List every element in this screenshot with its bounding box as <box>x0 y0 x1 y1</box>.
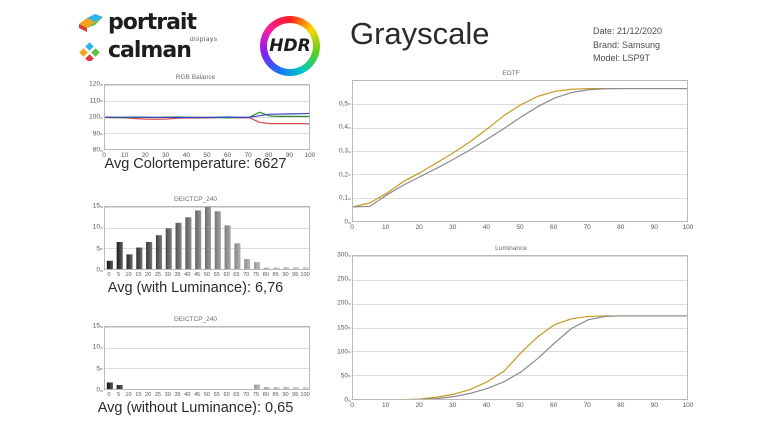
hdr-badge-ring-icon: HDR <box>260 16 320 76</box>
bar <box>264 387 270 390</box>
bar <box>254 385 260 390</box>
x-axis-tick-label: 20 <box>416 402 423 409</box>
calman-wordmark: calman <box>108 40 191 62</box>
x-axis-tick-label: 10 <box>125 392 131 398</box>
x-axis-tick-label: 85 <box>273 272 279 278</box>
chart-title-deictcp-with: DEICTCP_240 <box>78 196 313 203</box>
y-axis-tick-mark <box>348 151 351 152</box>
x-axis-tick-label: 80 <box>617 402 624 409</box>
y-axis-tick-label: 250 <box>330 276 348 283</box>
chart-deictcp-with-luminance: DEICTCP_240 Avg (with Luminance): 6,76 0… <box>78 196 313 301</box>
plot-area-eotf <box>352 80 688 222</box>
bar <box>107 261 113 270</box>
x-axis-tick-label: 55 <box>214 392 220 398</box>
x-axis-tick-label: 50 <box>204 392 210 398</box>
y-axis-tick-label: 110 <box>82 97 100 104</box>
hdr-badge-label: HDR <box>260 16 320 76</box>
y-axis-tick-mark <box>348 376 351 377</box>
portrait-mark-icon <box>78 13 104 33</box>
x-axis-tick-label: 35 <box>174 272 180 278</box>
y-axis-tick-label: 5 <box>86 365 100 372</box>
bar <box>117 385 123 390</box>
series-line <box>353 316 688 400</box>
x-axis-tick-label: 60 <box>224 152 231 159</box>
bar <box>205 207 211 270</box>
bar <box>293 387 299 390</box>
y-axis-tick-label: 0,1 <box>330 195 348 202</box>
x-axis-tick-label: 40 <box>483 402 490 409</box>
bar <box>244 259 250 270</box>
y-axis-tick-mark <box>100 134 103 135</box>
x-axis-tick-label: 30 <box>165 272 171 278</box>
y-axis-tick-label: 150 <box>330 324 348 331</box>
gridline <box>353 399 687 400</box>
gridline <box>105 149 309 150</box>
x-axis-tick-label: 85 <box>273 392 279 398</box>
bar <box>156 235 162 270</box>
y-axis-tick-mark <box>100 326 103 327</box>
y-axis-tick-label: 0 <box>86 387 100 394</box>
bar <box>126 389 132 390</box>
chart-luminance: Luminance 050100150200250300010203040506… <box>330 245 692 420</box>
y-axis-tick-mark <box>348 222 351 223</box>
x-axis-tick-label: 10 <box>382 402 389 409</box>
x-axis-tick-label: 30 <box>165 392 171 398</box>
chart-deictcp-without-luminance: DEICTCP_240 Avg (without Luminance): 0,6… <box>78 316 313 421</box>
x-axis-tick-label: 80 <box>263 392 269 398</box>
y-axis-tick-label: 120 <box>82 81 100 88</box>
series-line <box>353 89 688 207</box>
x-axis-tick-label: 50 <box>516 224 523 231</box>
y-axis-tick-label: 50 <box>330 372 348 379</box>
series-layer <box>105 85 310 150</box>
x-axis-tick-label: 90 <box>282 272 288 278</box>
page-title: Grayscale <box>350 16 490 52</box>
x-axis-tick-label: 100 <box>305 152 316 159</box>
plot-area-deictcp-with <box>104 206 310 270</box>
x-axis-tick-label: 90 <box>651 402 658 409</box>
y-axis-tick-mark <box>348 175 351 176</box>
bar <box>117 242 123 270</box>
y-axis-tick-label: 10 <box>86 224 100 231</box>
y-axis-tick-mark <box>100 101 103 102</box>
caption-colortemperature: Avg Colortemperature: 6627 <box>78 156 313 172</box>
bar <box>234 243 240 270</box>
bar <box>274 268 280 270</box>
portrait-wordmark: portrait <box>108 12 196 34</box>
y-axis-tick-label: 15 <box>86 323 100 330</box>
x-axis-tick-label: 50 <box>203 152 210 159</box>
x-axis-tick-label: 65 <box>233 392 239 398</box>
chart-title-luminance: Luminance <box>330 245 692 252</box>
x-axis-tick-label: 0 <box>350 224 354 231</box>
y-axis-tick-mark <box>100 150 103 151</box>
x-axis-tick-label: 65 <box>233 272 239 278</box>
y-axis-tick-mark <box>348 255 351 256</box>
caption-with-luminance: Avg (with Luminance): 6,76 <box>78 280 313 296</box>
bar <box>274 387 280 390</box>
bar <box>136 248 142 270</box>
chart-rgb-balance: RGB Balance Avg Colortemperature: 6627 8… <box>78 74 313 179</box>
bar <box>176 223 182 270</box>
plot-area-deictcp-without <box>104 326 310 390</box>
series-line <box>105 117 310 124</box>
y-axis-tick-label: 0 <box>86 267 100 274</box>
meta-date: Date: 21/12/2020 <box>593 25 662 39</box>
chart-title-eotf: EOTF <box>330 70 692 77</box>
x-axis-tick-label: 100 <box>683 402 694 409</box>
y-axis-tick-label: 300 <box>330 252 348 259</box>
y-axis-tick-mark <box>100 390 103 391</box>
x-axis-tick-label: 90 <box>286 152 293 159</box>
y-axis-tick-mark <box>348 400 351 401</box>
bar <box>156 389 162 390</box>
series-line <box>353 89 688 207</box>
x-axis-tick-label: 15 <box>135 392 141 398</box>
bar <box>107 382 113 390</box>
x-axis-tick-label: 5 <box>117 392 120 398</box>
y-axis-tick-mark <box>100 369 103 370</box>
bar <box>283 387 289 390</box>
bar <box>195 210 201 270</box>
bar <box>303 387 309 390</box>
x-axis-tick-label: 20 <box>145 272 151 278</box>
gridline <box>105 269 309 270</box>
x-axis-tick-label: 30 <box>162 152 169 159</box>
x-axis-tick-label: 40 <box>184 392 190 398</box>
x-axis-tick-label: 5 <box>117 272 120 278</box>
x-axis-tick-label: 30 <box>449 224 456 231</box>
y-axis-tick-mark <box>100 227 103 228</box>
y-axis-tick-mark <box>100 249 103 250</box>
y-axis-tick-label: 10 <box>86 344 100 351</box>
gridline <box>353 221 687 222</box>
x-axis-tick-label: 100 <box>300 272 309 278</box>
x-axis-tick-label: 40 <box>483 224 490 231</box>
bar <box>166 389 172 390</box>
bar <box>126 254 132 270</box>
series-line <box>353 316 688 400</box>
bar <box>303 267 309 270</box>
x-axis-tick-label: 70 <box>243 272 249 278</box>
x-axis-tick-label: 40 <box>184 272 190 278</box>
y-axis-tick-mark <box>348 104 351 105</box>
chart-eotf: EOTF 00,10,20,30,40,50102030405060708090… <box>330 70 692 235</box>
y-axis-tick-label: 0 <box>330 397 348 404</box>
bar <box>254 262 260 270</box>
y-axis-tick-label: 15 <box>86 203 100 210</box>
x-axis-tick-label: 90 <box>651 224 658 231</box>
x-axis-tick-label: 0 <box>102 152 106 159</box>
x-axis-tick-label: 25 <box>155 392 161 398</box>
bar <box>185 217 191 270</box>
x-axis-tick-label: 95 <box>292 392 298 398</box>
x-axis-tick-label: 40 <box>183 152 190 159</box>
x-axis-tick-label: 55 <box>214 272 220 278</box>
y-axis-tick-label: 0,2 <box>330 171 348 178</box>
y-axis-tick-label: 100 <box>82 114 100 121</box>
y-axis-tick-mark <box>348 352 351 353</box>
x-axis-tick-label: 70 <box>584 224 591 231</box>
x-axis-tick-label: 15 <box>135 272 141 278</box>
x-axis-tick-label: 10 <box>121 152 128 159</box>
report-metadata: Date: 21/12/2020 Brand: Samsung Model: L… <box>593 25 662 66</box>
portrait-displays-logo: portrait <box>78 10 268 36</box>
y-axis-tick-mark <box>100 270 103 271</box>
bar <box>264 268 270 270</box>
x-axis-tick-label: 50 <box>204 272 210 278</box>
bar <box>146 242 152 270</box>
bar <box>136 389 142 390</box>
y-axis-tick-label: 80 <box>82 147 100 154</box>
series-layer <box>353 81 688 222</box>
calman-diamond-icon <box>78 41 104 61</box>
y-axis-tick-label: 100 <box>330 348 348 355</box>
chart-title-deictcp-without: DEICTCP_240 <box>78 316 313 323</box>
x-axis-tick-label: 80 <box>617 224 624 231</box>
bars-layer <box>105 327 310 390</box>
y-axis-tick-label: 0,4 <box>330 124 348 131</box>
x-axis-tick-label: 20 <box>416 224 423 231</box>
y-axis-tick-label: 0,3 <box>330 148 348 155</box>
x-axis-tick-label: 10 <box>382 224 389 231</box>
plot-area-luminance <box>352 255 688 400</box>
y-axis-tick-mark <box>100 347 103 348</box>
calman-logo: portrait displays calman HDR <box>78 10 268 66</box>
y-axis-tick-label: 5 <box>86 245 100 252</box>
x-axis-tick-label: 0 <box>107 392 110 398</box>
x-axis-tick-label: 80 <box>263 272 269 278</box>
gridline <box>105 389 309 390</box>
bars-layer <box>105 207 310 270</box>
y-axis-tick-mark <box>348 303 351 304</box>
y-axis-tick-mark <box>100 84 103 85</box>
x-axis-tick-label: 100 <box>300 392 309 398</box>
y-axis-tick-mark <box>348 328 351 329</box>
portrait-subtitle: displays <box>190 36 217 43</box>
x-axis-tick-label: 60 <box>223 272 229 278</box>
bar <box>225 225 231 270</box>
x-axis-tick-label: 50 <box>516 402 523 409</box>
report-page: portrait displays calman HDR Grayscale D… <box>0 0 768 432</box>
x-axis-tick-label: 60 <box>550 402 557 409</box>
y-axis-tick-mark <box>348 279 351 280</box>
bar <box>166 228 172 270</box>
y-axis-tick-mark <box>100 206 103 207</box>
x-axis-tick-label: 60 <box>550 224 557 231</box>
x-axis-tick-label: 10 <box>125 272 131 278</box>
plot-area-rgb-balance <box>104 84 310 150</box>
x-axis-tick-label: 35 <box>174 392 180 398</box>
x-axis-tick-label: 75 <box>253 392 259 398</box>
x-axis-tick-label: 90 <box>282 392 288 398</box>
series-layer <box>353 256 688 400</box>
x-axis-tick-label: 45 <box>194 392 200 398</box>
bar <box>293 267 299 270</box>
x-axis-tick-label: 20 <box>142 152 149 159</box>
x-axis-tick-label: 70 <box>245 152 252 159</box>
y-axis-tick-label: 0,5 <box>330 100 348 107</box>
bar <box>215 211 221 270</box>
x-axis-tick-label: 25 <box>155 272 161 278</box>
caption-without-luminance: Avg (without Luminance): 0,65 <box>78 400 313 416</box>
meta-brand: Brand: Samsung <box>593 39 662 53</box>
y-axis-tick-label: 200 <box>330 300 348 307</box>
bar <box>283 267 289 270</box>
x-axis-tick-label: 75 <box>253 272 259 278</box>
calman-logo-row: calman <box>78 38 268 64</box>
x-axis-tick-label: 45 <box>194 272 200 278</box>
x-axis-tick-label: 60 <box>223 392 229 398</box>
y-axis-tick-label: 0 <box>330 219 348 226</box>
y-axis-tick-label: 90 <box>82 130 100 137</box>
x-axis-tick-label: 70 <box>584 402 591 409</box>
x-axis-tick-label: 20 <box>145 392 151 398</box>
x-axis-tick-label: 30 <box>449 402 456 409</box>
y-axis-tick-mark <box>348 127 351 128</box>
y-axis-tick-mark <box>100 117 103 118</box>
y-axis-tick-mark <box>348 198 351 199</box>
x-axis-tick-label: 95 <box>292 272 298 278</box>
x-axis-tick-label: 0 <box>350 402 354 409</box>
meta-model: Model: LSP9T <box>593 52 662 66</box>
x-axis-tick-label: 70 <box>243 392 249 398</box>
x-axis-tick-label: 80 <box>265 152 272 159</box>
x-axis-tick-label: 0 <box>107 272 110 278</box>
x-axis-tick-label: 100 <box>683 224 694 231</box>
